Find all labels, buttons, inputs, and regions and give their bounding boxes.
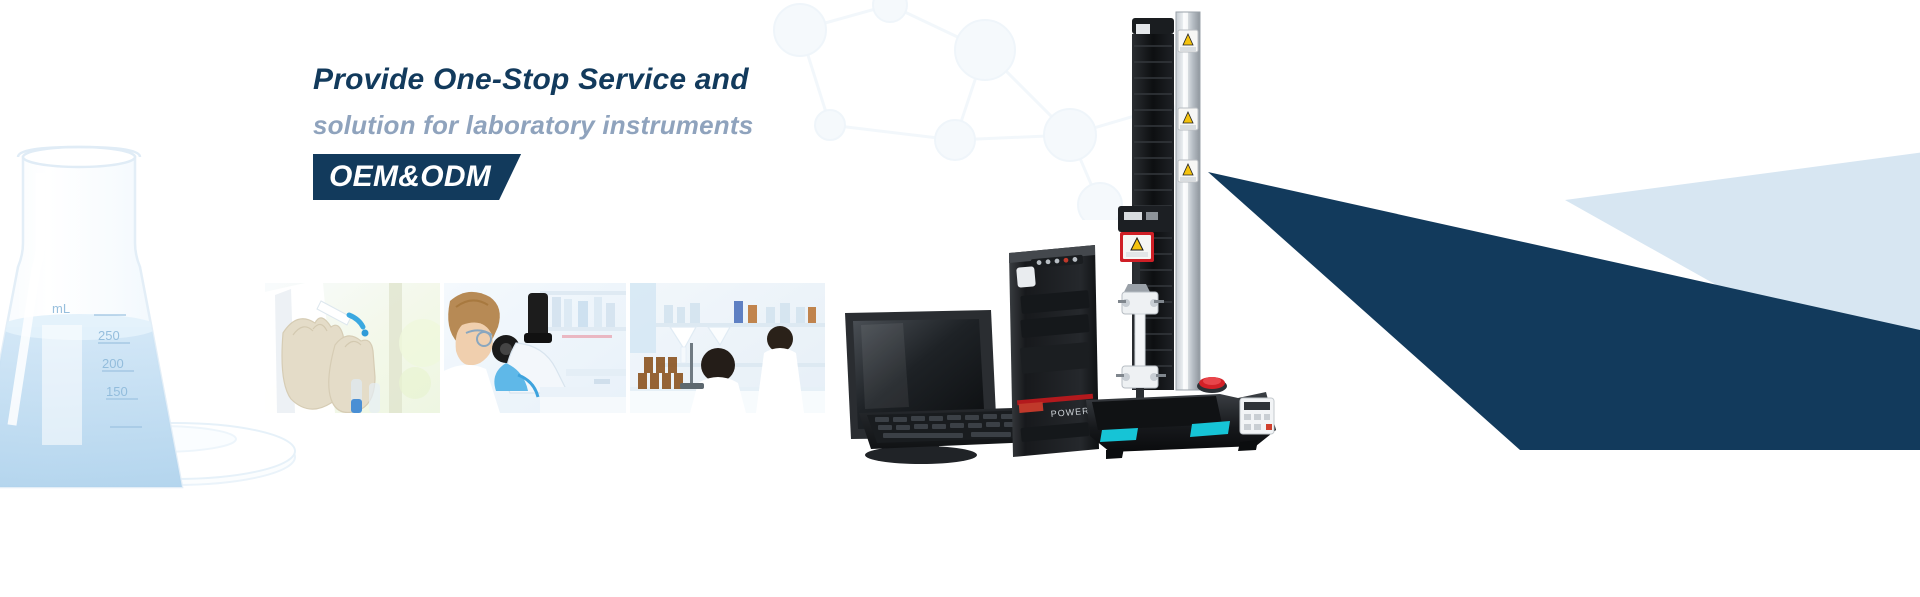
oem-odm-badge[interactable]: OEM&ODM <box>313 154 521 200</box>
photo-panel-researchers <box>630 283 825 413</box>
oem-odm-badge-label: OEM&ODM <box>329 160 491 194</box>
flask-graduation-250: 250 <box>98 328 120 343</box>
flask-graduation-200: 200 <box>102 356 124 371</box>
photo-panel-pipetting <box>265 283 440 413</box>
flask-unit-label: mL <box>52 301 70 316</box>
promotional-banner: 250 200 150 mL Provide One-Stop Service … <box>0 0 1920 597</box>
photo-strip <box>265 283 825 413</box>
photo-panel-microscope <box>444 283 626 413</box>
universal-testing-machine-graphic <box>1080 0 1330 460</box>
oem-odm-badge-wrapper: OEM&ODM <box>313 154 521 200</box>
flask-graduation-150: 150 <box>106 384 128 399</box>
